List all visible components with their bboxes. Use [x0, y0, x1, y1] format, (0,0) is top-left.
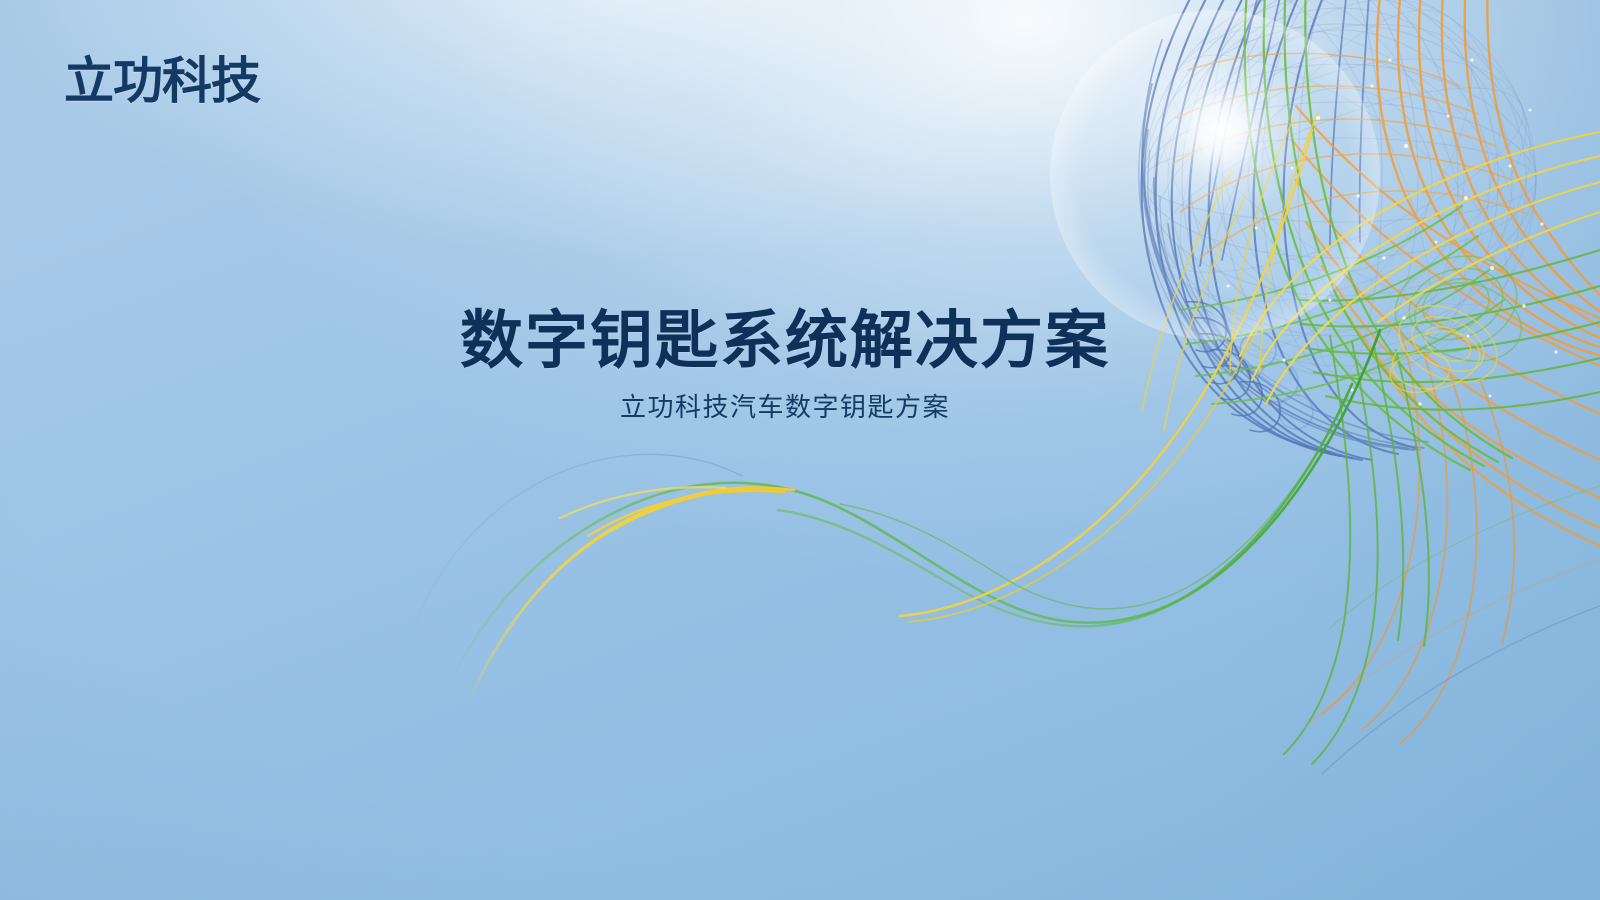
title-block: 数字钥匙系统解决方案 立功科技汽车数字钥匙方案 [0, 306, 1570, 424]
title-slide: 立功科技 数字钥匙系统解决方案 立功科技汽车数字钥匙方案 [0, 0, 1600, 900]
company-logo: 立功科技 [64, 56, 260, 106]
page-title: 数字钥匙系统解决方案 [0, 306, 1570, 377]
background-vignette [0, 0, 1600, 900]
page-subtitle: 立功科技汽车数字钥匙方案 [0, 391, 1570, 425]
